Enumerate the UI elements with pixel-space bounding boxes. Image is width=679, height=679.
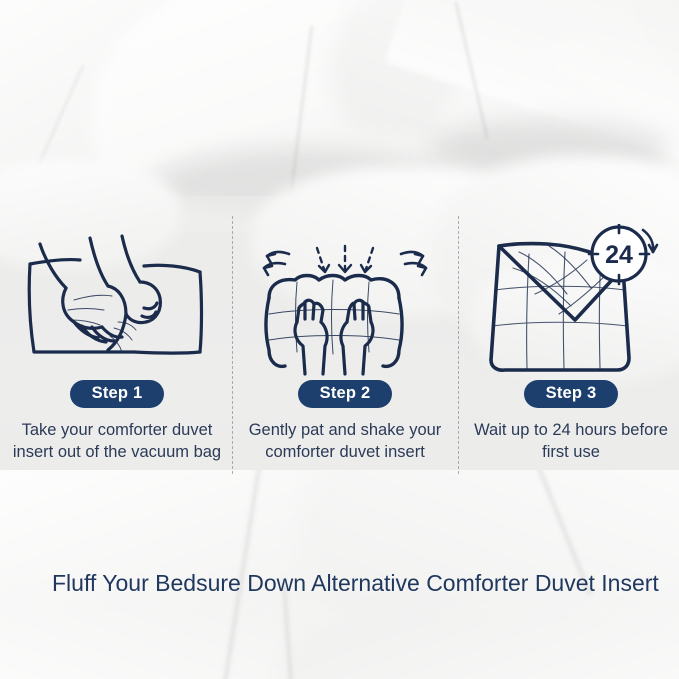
headline: Fluff Your Bedsure Down Alternative Comf… [52, 566, 662, 600]
step-1-description: Take your comforter duvet insert out of … [12, 419, 222, 465]
step-1-badge: Step 1 [70, 380, 165, 408]
downward-dashed-arrows-icon [317, 246, 373, 272]
step-2-description: Gently pat and shake your comforter duve… [240, 419, 450, 465]
folded-quilt-icon: 24 [483, 224, 659, 376]
step-3-illustration: 24 [458, 216, 679, 376]
step-2-illustration [232, 216, 458, 376]
step-3-description: Wait up to 24 hours before first use [468, 419, 674, 465]
step-2-badge: Step 2 [298, 380, 393, 408]
step-column-1: Step 1 Take your comforter duvet insert … [4, 216, 230, 464]
patting-hands-icon [295, 300, 373, 374]
step-3-badge: Step 3 [524, 380, 619, 408]
step-column-3: 24 Step 3 Wait up to 24 hours before fir… [458, 216, 679, 464]
step-1-illustration [4, 216, 230, 376]
24-hour-clock-badge-icon: 24 [589, 224, 657, 284]
step-column-2: Step 2 Gently pat and shake your comfort… [232, 216, 458, 464]
clock-hours-label: 24 [605, 241, 633, 269]
hands-patting-comforter-icon [255, 224, 435, 376]
infographic-canvas: Step 1 Take your comforter duvet insert … [0, 0, 679, 679]
hands-pulling-comforter-icon [22, 226, 212, 376]
